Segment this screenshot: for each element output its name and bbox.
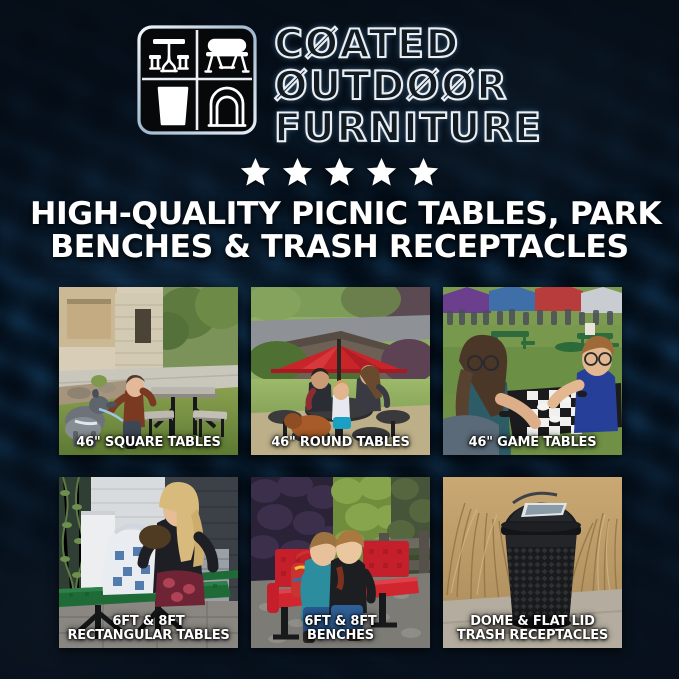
product-tile-round-tables[interactable]: 46" ROUND TABLES [251, 287, 430, 455]
wordmark-line-coated: CØATED [274, 26, 542, 63]
caption-line-1: 6FT & 8FT [255, 615, 426, 629]
product-tile-rectangular-tables[interactable]: 6FT & 8FT RECTANGULAR TABLES [59, 477, 238, 648]
product-tile-square-tables[interactable]: 46" SQUARE TABLES [59, 287, 238, 455]
headline-line-2: BENCHES & TRASH RECEPTACLES [30, 231, 649, 264]
caption-line-2: RECTANGULAR TABLES [63, 629, 234, 643]
caption-line-1: 46" GAME TABLES [447, 436, 618, 450]
product-photo-game-tables [443, 287, 622, 455]
star-rating [0, 156, 679, 188]
product-category-grid: 46" SQUARE TABLES [59, 287, 622, 648]
product-tile-caption: 46" ROUND TABLES [255, 436, 426, 450]
trash-receptacle-icon [159, 88, 187, 124]
product-tile-caption: 6FT & 8FT BENCHES [255, 615, 426, 643]
star-icon [407, 156, 440, 188]
brand-logo-lockup: CØATED ØUTDØØR FURNITURE [0, 24, 679, 147]
caption-line-2: BENCHES [255, 629, 426, 643]
poster-headline: HIGH-QUALITY PICNIC TABLES, PARK BENCHES… [30, 198, 649, 265]
caption-line-1: 46" ROUND TABLES [255, 436, 426, 450]
star-icon [239, 156, 272, 188]
product-tile-trash-receptacles[interactable]: DOME & FLAT LID TRASH RECEPTACLES [443, 477, 622, 648]
wordmark-line-outdoor: ØUTDØØR [274, 68, 542, 105]
caption-line-2: TRASH RECEPTACLES [447, 629, 618, 643]
headline-line-1: HIGH-QUALITY PICNIC TABLES, PARK [30, 198, 649, 231]
product-tile-caption: 46" GAME TABLES [447, 436, 618, 450]
star-icon [323, 156, 356, 188]
poster-content: CØATED ØUTDØØR FURNITURE HIGH-QUALITY PI… [0, 0, 679, 679]
product-tile-game-tables[interactable]: 46" GAME TABLES [443, 287, 622, 455]
brand-wordmark: CØATED ØUTDØØR FURNITURE [274, 24, 542, 147]
product-tile-benches[interactable]: 6FT & 8FT BENCHES [251, 477, 430, 648]
product-photo-square-tables [59, 287, 238, 455]
product-tile-caption: DOME & FLAT LID TRASH RECEPTACLES [447, 615, 618, 643]
caption-line-1: 6FT & 8FT [63, 615, 234, 629]
star-icon [281, 156, 314, 188]
product-photo-round-tables [251, 287, 430, 455]
product-tile-caption: 6FT & 8FT RECTANGULAR TABLES [63, 615, 234, 643]
product-tile-caption: 46" SQUARE TABLES [63, 436, 234, 450]
brand-logo-mark [136, 24, 258, 136]
star-icon [365, 156, 398, 188]
caption-line-1: 46" SQUARE TABLES [63, 436, 234, 450]
promo-poster: CØATED ØUTDØØR FURNITURE HIGH-QUALITY PI… [0, 0, 679, 679]
wordmark-line-furniture: FURNITURE [274, 110, 542, 147]
caption-line-1: DOME & FLAT LID [447, 615, 618, 629]
